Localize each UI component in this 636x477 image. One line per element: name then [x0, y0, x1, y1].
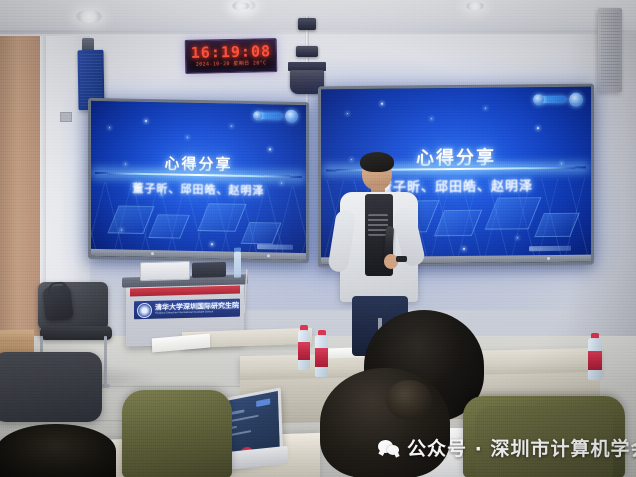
water-bottle[interactable]: [588, 338, 602, 380]
screen-star: [347, 113, 348, 114]
screen-star: [517, 237, 518, 238]
screen-star: [269, 148, 271, 150]
bezel-indicator: [151, 252, 154, 255]
podium-equipment-dark: [192, 262, 226, 278]
foreground-chair-olive-left[interactable]: [122, 390, 232, 477]
screen-star: [485, 108, 486, 109]
wristwatch: [396, 256, 407, 262]
bezel-indicator: [267, 254, 270, 257]
podium-water-bottle: [234, 252, 241, 278]
screen-star: [121, 230, 122, 231]
screen-brand-logo-seal: [569, 93, 583, 107]
podium-university-logo: 清华大学深圳国际研究生院 Tsinghua Shenzhen Internati…: [134, 299, 240, 320]
bottle-label: [315, 348, 328, 367]
screen-brand-logo-seal: [285, 110, 298, 123]
led-wall-clock: 16:19:08 2024-10-20 星期日 20°C: [185, 38, 278, 74]
presenter-hair: [360, 152, 394, 172]
university-name-en: Tsinghua Shenzhen International Graduate…: [155, 310, 239, 315]
screen-star: [381, 103, 383, 105]
laptop-ui-badge: [256, 398, 270, 407]
watermark: 公众号 · 深圳市计算机学会: [378, 434, 636, 461]
ceiling-camera-head: [298, 18, 316, 30]
clock-date: 2024-10-20 星期日 20°C: [186, 59, 276, 68]
screen-star: [187, 137, 188, 138]
speaker-mesh: [601, 13, 619, 87]
ceiling-downlight: [76, 10, 102, 23]
chair-leg: [104, 336, 107, 386]
screen-star: [145, 120, 147, 122]
ceiling-downlight: [232, 2, 250, 10]
bottle-label: [298, 342, 310, 360]
screen-star: [431, 118, 432, 119]
screen-brand-logo-round: [253, 111, 262, 120]
wechat-icon: [378, 439, 400, 457]
screen-bottom-badge: [257, 244, 293, 250]
screen-star: [537, 127, 539, 129]
ceiling-downlight: [466, 2, 484, 10]
audience-member-far-left: [0, 424, 116, 477]
bottle-label: [588, 351, 602, 370]
audience-hair-bun: [386, 380, 432, 420]
foreground-chair-dark[interactable]: [0, 352, 102, 422]
screen-star: [463, 248, 465, 250]
wall-outlet-plate: [60, 112, 72, 122]
university-seal-icon: [137, 302, 152, 317]
water-bottle[interactable]: [298, 330, 310, 370]
mesh-chair-seat[interactable]: [40, 326, 112, 340]
screen-star: [231, 126, 232, 127]
screen-brand-logo-round: [533, 94, 544, 105]
bezel-indicator: [547, 257, 550, 260]
screen-star: [211, 243, 213, 245]
screen-bottom-badge: [529, 246, 571, 251]
ceiling-mount-bracket: [296, 46, 318, 57]
podium-equipment-white: [140, 261, 190, 281]
screen-star: [109, 127, 110, 128]
display-screen-left[interactable]: 心得分享 董⼦昕、邱⽥皓、赵明泽: [88, 98, 309, 263]
backpack-strap: [47, 281, 68, 295]
watermark-text: 公众号 · 深圳市计算机学会: [407, 434, 636, 461]
podium-red-accent: [130, 286, 240, 297]
lecture-hall-photo: 16:19:08 2024-10-20 星期日 20°C 心得分享: [0, 0, 636, 477]
wechat-bubble-tail: [394, 452, 399, 457]
wall-speaker-right: [598, 8, 622, 92]
